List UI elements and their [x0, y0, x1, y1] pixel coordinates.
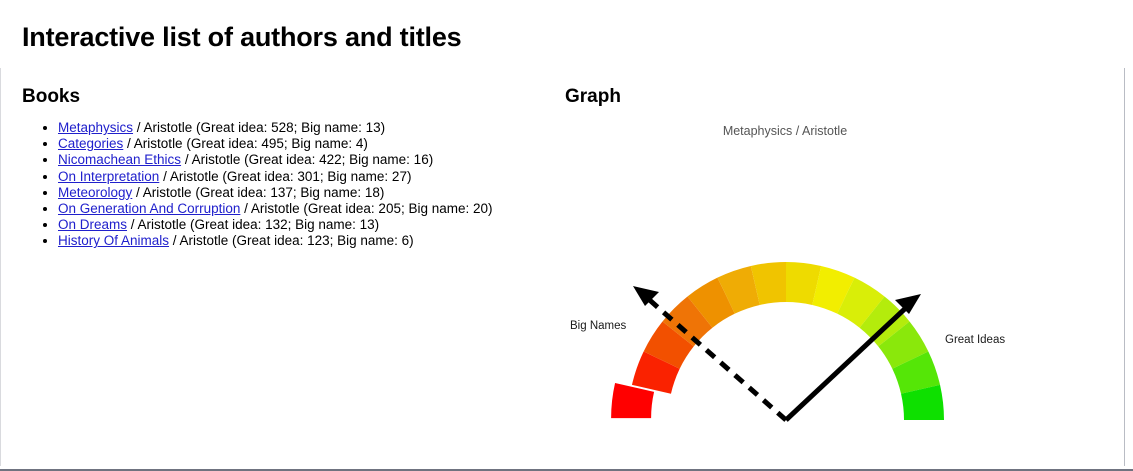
page-frame: Interactive list of authors and titles B…	[0, 0, 1133, 471]
list-item: History Of Animals / Aristotle (Great id…	[58, 233, 542, 249]
book-meta: / Aristotle (Great idea: 123; Big name: …	[169, 233, 414, 248]
list-item: Meteorology / Aristotle (Great idea: 137…	[58, 185, 542, 201]
book-title-link[interactable]: On Generation And Corruption	[58, 201, 240, 216]
book-meta: / Aristotle (Great idea: 301; Big name: …	[159, 169, 411, 184]
book-meta: / Aristotle (Great idea: 495; Big name: …	[123, 136, 368, 151]
page-title: Interactive list of authors and titles	[22, 20, 462, 54]
book-meta: / Aristotle (Great idea: 205; Big name: …	[240, 201, 492, 216]
big-names-axis-label: Big Names	[570, 320, 626, 332]
book-title-link[interactable]: On Interpretation	[58, 169, 159, 184]
list-item: Metaphysics / Aristotle (Great idea: 528…	[58, 120, 542, 136]
book-title-link[interactable]: History Of Animals	[58, 233, 169, 248]
great-ideas-axis-label: Great Ideas	[945, 334, 1005, 346]
list-item: Nicomachean Ethics / Aristotle (Great id…	[58, 152, 542, 168]
list-item: Categories / Aristotle (Great idea: 495;…	[58, 136, 542, 152]
book-meta: / Aristotle (Great idea: 137; Big name: …	[132, 185, 384, 200]
books-column: Books Metaphysics / Aristotle (Great ide…	[22, 86, 542, 250]
book-meta: / Aristotle (Great idea: 528; Big name: …	[133, 120, 385, 135]
book-title-link[interactable]: On Dreams	[58, 217, 127, 232]
list-item: On Generation And Corruption / Aristotle…	[58, 201, 542, 217]
graph-column: Graph Metaphysics / Aristotle Big Names	[565, 86, 1110, 456]
gauge-chart[interactable]: Metaphysics / Aristotle Big Names Great …	[565, 86, 1110, 456]
gauge-svg[interactable]: Big Names Great Ideas	[565, 86, 1110, 456]
book-title-link[interactable]: Nicomachean Ethics	[58, 152, 181, 167]
list-item: On Dreams / Aristotle (Great idea: 132; …	[58, 217, 542, 233]
books-list: Metaphysics / Aristotle (Great idea: 528…	[22, 120, 542, 250]
book-meta: / Aristotle (Great idea: 132; Big name: …	[127, 217, 379, 232]
gauge-arc-segments	[611, 262, 944, 420]
books-heading: Books	[22, 86, 542, 108]
list-item: On Interpretation / Aristotle (Great ide…	[58, 169, 542, 185]
book-meta: / Aristotle (Great idea: 422; Big name: …	[181, 152, 433, 167]
book-title-link[interactable]: Categories	[58, 136, 123, 151]
book-title-link[interactable]: Meteorology	[58, 185, 132, 200]
book-title-link[interactable]: Metaphysics	[58, 120, 133, 135]
